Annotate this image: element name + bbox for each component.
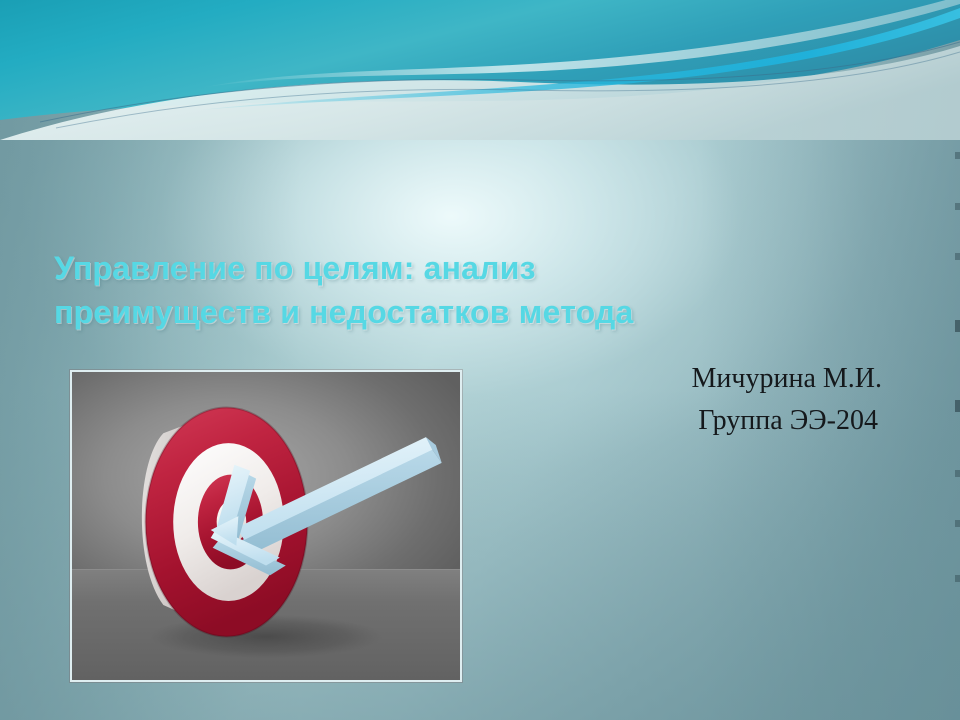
title-line-1: Управление по целям: анализ <box>54 246 774 290</box>
edge-artifact-marks <box>954 0 960 720</box>
slide-subtitle: Мичурина М.И. Группа ЭЭ-204 <box>462 358 882 442</box>
header-wave-decoration <box>0 0 960 140</box>
target-illustration <box>70 370 462 682</box>
slide-title: Управление по целям: анализ преимуществ … <box>54 246 774 334</box>
target-arrow-graphic <box>72 372 460 680</box>
author-name: Мичурина М.И. <box>462 358 882 400</box>
author-group: Группа ЭЭ-204 <box>462 400 882 442</box>
title-line-2: преимуществ и недостатков метода <box>54 290 774 334</box>
presentation-slide: Управление по целям: анализ преимуществ … <box>0 0 960 720</box>
